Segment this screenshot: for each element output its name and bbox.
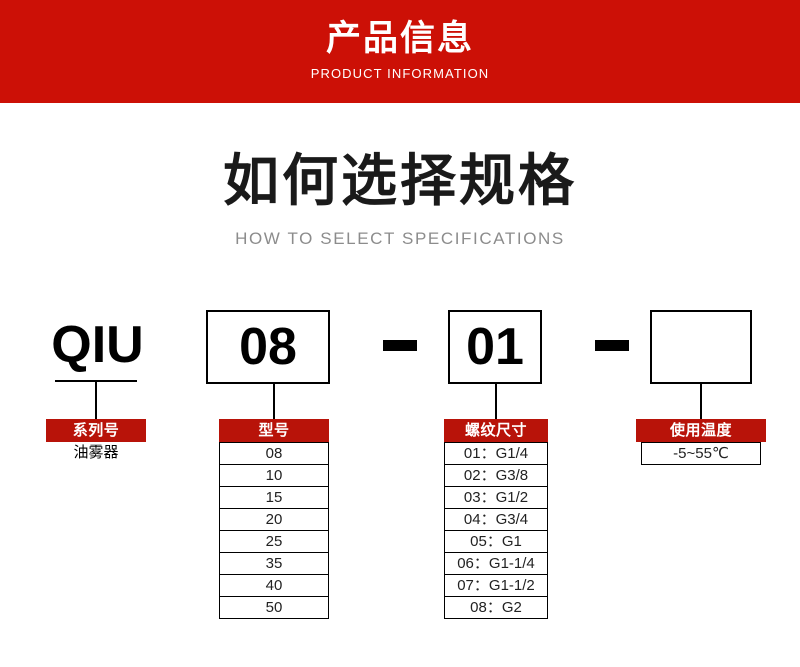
code-temperature-box: [650, 310, 752, 384]
spec-cell-model-4: 25: [219, 530, 329, 553]
spec-cell-thread-0: 01：G1/4: [444, 442, 548, 465]
spec-cell-thread-6: 07：G1-1/2: [444, 574, 548, 597]
code-separator-2: [595, 340, 629, 351]
spec-cell-series-0: 油雾器: [46, 442, 146, 464]
spec-cell-temperature-0: -5~55℃: [641, 442, 761, 465]
spec-cell-model-7: 50: [219, 596, 329, 619]
spec-cell-thread-3: 04：G3/4: [444, 508, 548, 531]
column-header-thread: 螺纹尺寸: [444, 419, 548, 442]
spec-cell-model-3: 20: [219, 508, 329, 531]
code-separator-1: [383, 340, 417, 351]
spec-cell-thread-5: 06：G1-1/4: [444, 552, 548, 575]
code-thread-box: 01: [448, 310, 542, 384]
spec-cell-thread-2: 03：G1/2: [444, 486, 548, 509]
column-header-model: 型号: [219, 419, 329, 442]
spec-cell-model-0: 08: [219, 442, 329, 465]
column-header-series: 系列号: [46, 419, 146, 442]
spec-cell-thread-1: 02：G3/8: [444, 464, 548, 487]
connector-model: [273, 384, 275, 419]
spec-cell-thread-4: 05：G1: [444, 530, 548, 553]
spec-cell-model-2: 15: [219, 486, 329, 509]
code-model-box: 08: [206, 310, 330, 384]
spec-cell-model-6: 40: [219, 574, 329, 597]
connector-thread: [495, 384, 497, 419]
connector-series: [95, 380, 97, 419]
spec-cell-model-5: 35: [219, 552, 329, 575]
connector-temperature: [700, 384, 702, 419]
column-header-temperature: 使用温度: [636, 419, 766, 442]
spec-cell-model-1: 10: [219, 464, 329, 487]
model-code-diagram: QIU 08 01: [0, 0, 800, 667]
spec-cell-thread-7: 08：G2: [444, 596, 548, 619]
code-series-text: QIU: [20, 315, 175, 375]
